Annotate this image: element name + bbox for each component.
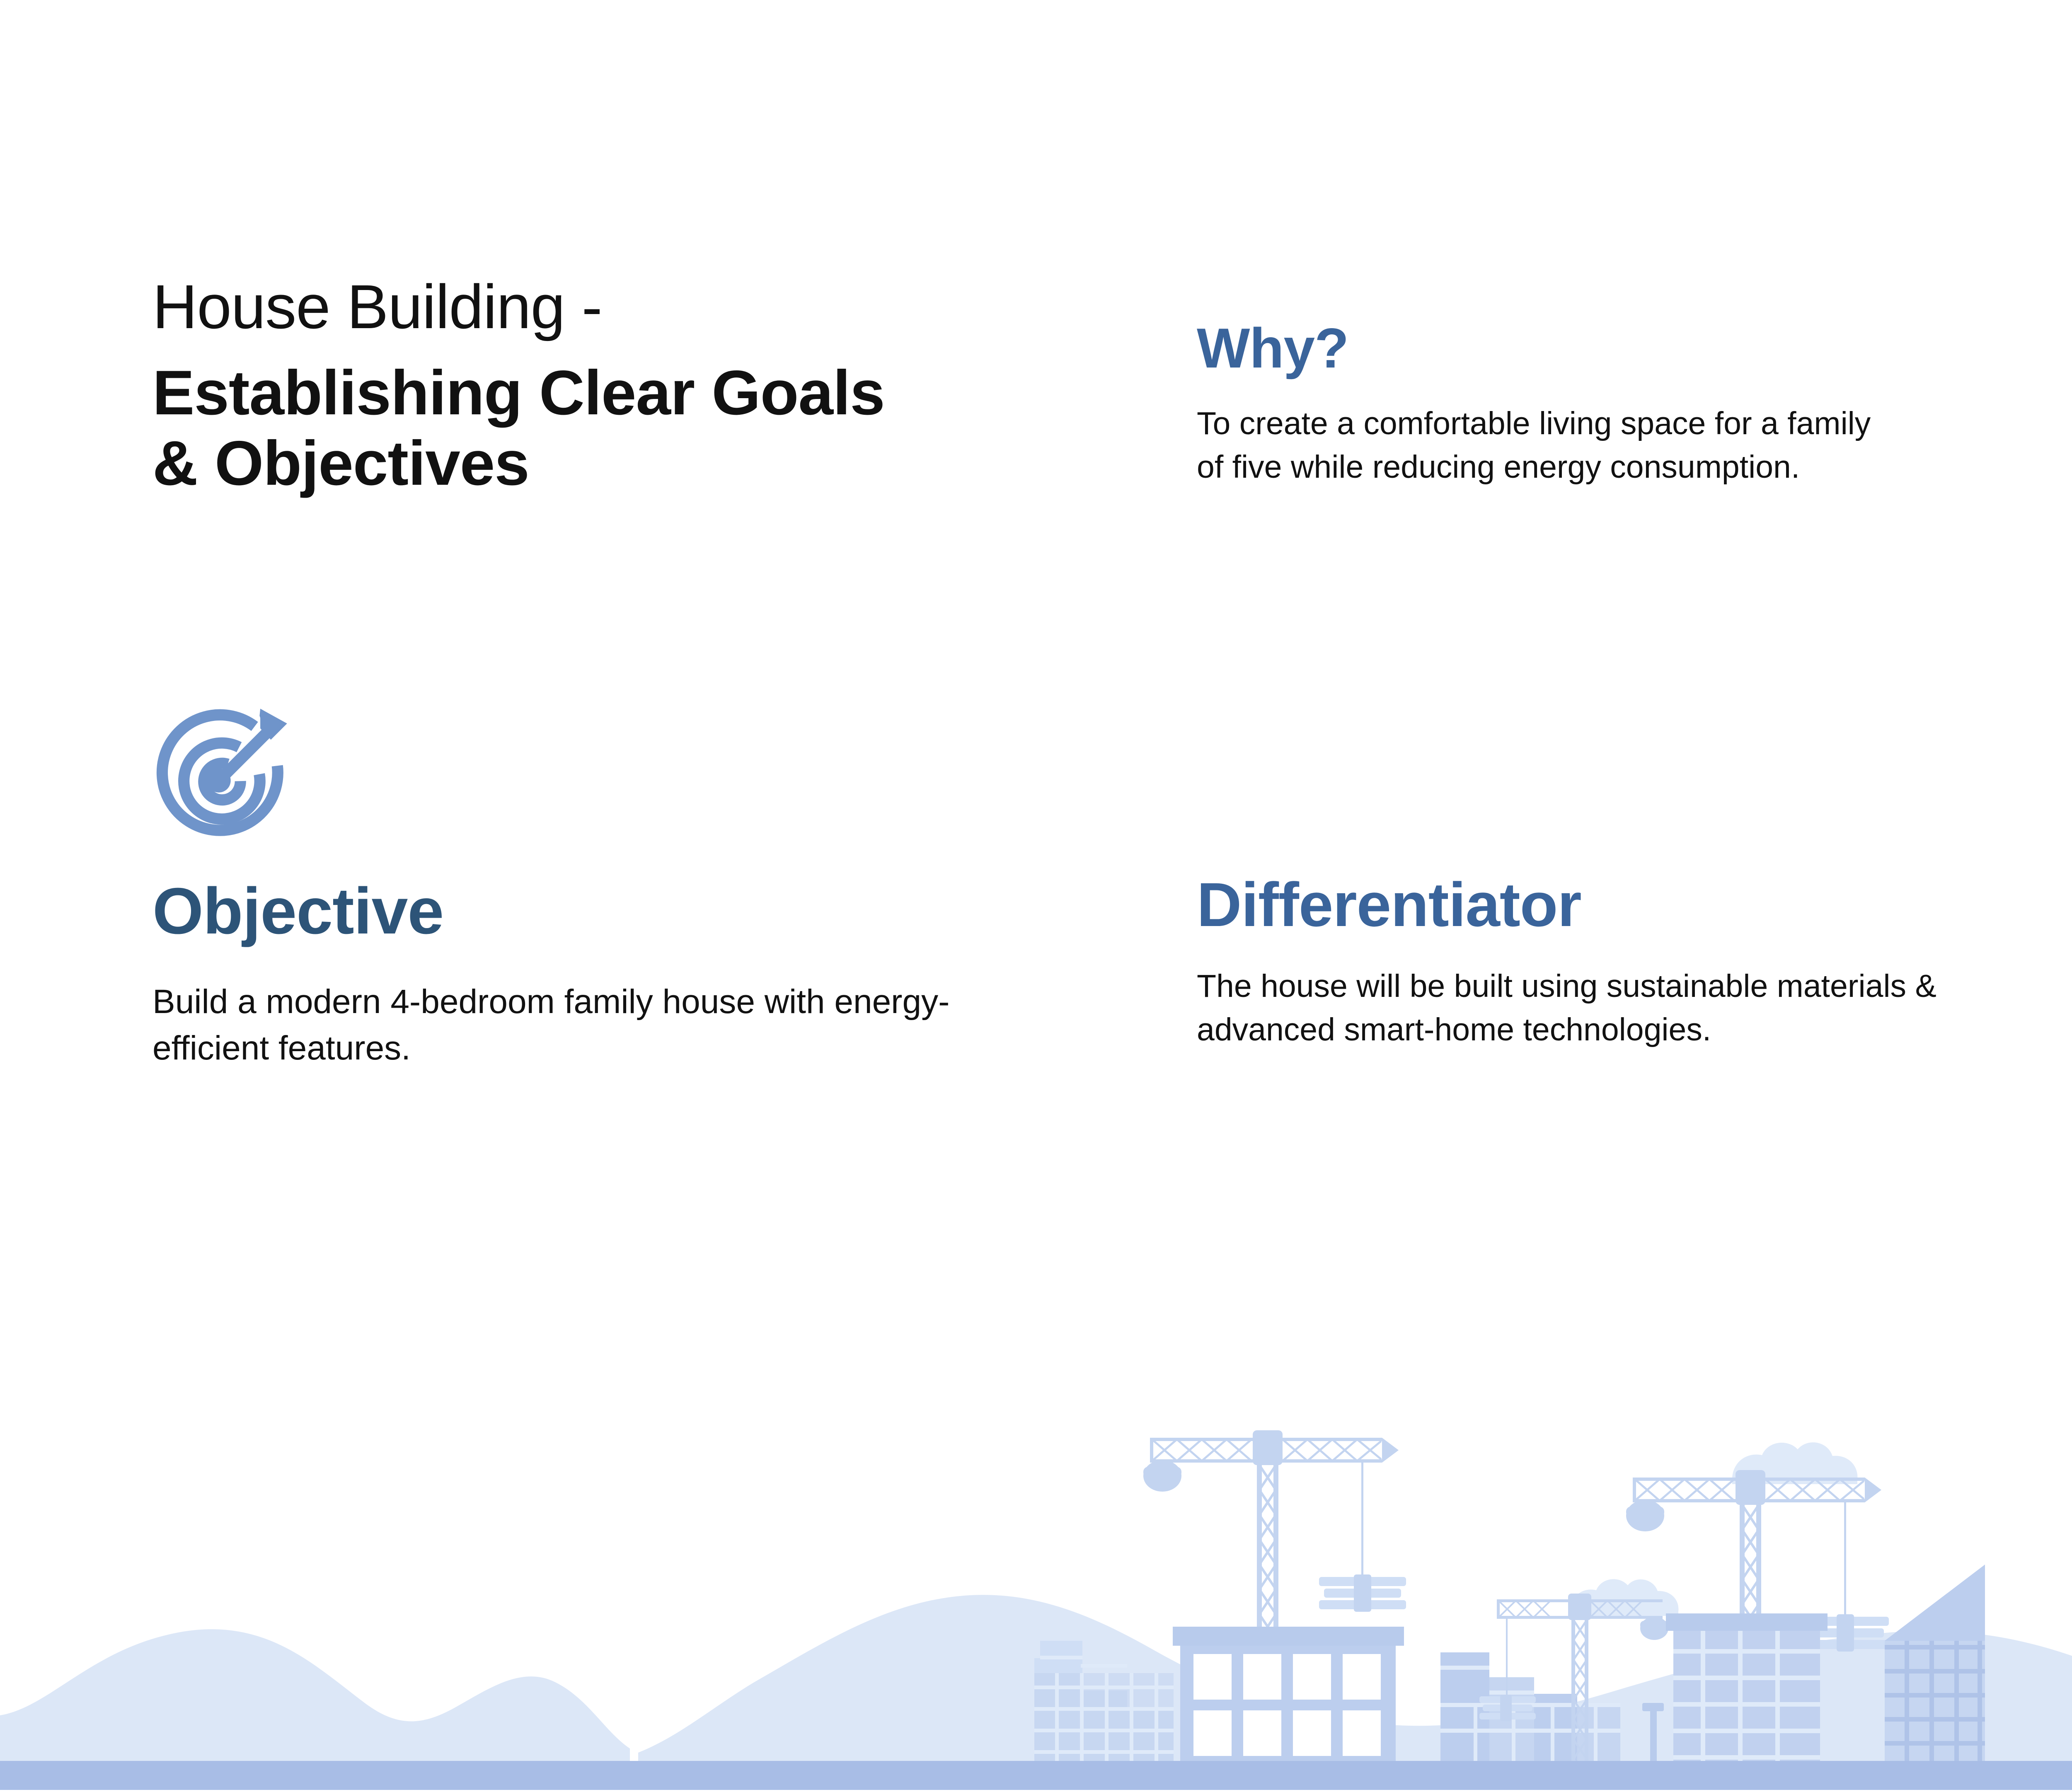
- section-differentiator-heading: Differentiator: [1197, 873, 2009, 936]
- section-objective-body: Build a modern 4-bedroom family house wi…: [152, 979, 965, 1072]
- section-objective-text: Build a modern 4-bedroom family house wi…: [152, 979, 965, 1072]
- section-why-body: To create a comfortable living space for…: [1197, 402, 1893, 489]
- section-why: Why? To create a comfortable living spac…: [1197, 320, 1893, 489]
- ground-band: [0, 1761, 2072, 1790]
- section-differentiator: Differentiator The house will be built u…: [1197, 873, 2009, 1052]
- clouds: [1571, 1442, 1857, 1616]
- section-differentiator-body: The house will be built using sustainabl…: [1197, 965, 2009, 1052]
- building-tower-pointed: [1885, 1565, 1985, 1782]
- section-objective: Objective Build a modern 4-bedroom famil…: [152, 878, 965, 1072]
- section-differentiator-text: The house will be built using sustainabl…: [1197, 965, 2009, 1052]
- section-why-text: To create a comfortable living space for…: [1197, 402, 1893, 489]
- page-title: House Building - Establishing Clear Goal…: [152, 273, 940, 498]
- section-why-heading: Why?: [1197, 320, 1893, 376]
- title-line-1: House Building -: [152, 273, 940, 340]
- title-line-2: Establishing Clear Goals & Objectives: [152, 358, 940, 498]
- section-objective-heading: Objective: [152, 878, 965, 944]
- building-frame-left: [1143, 1430, 1406, 1782]
- construction-site-illustration: [0, 1417, 2072, 1790]
- slide-canvas: House Building - Establishing Clear Goal…: [0, 0, 2072, 1790]
- target-icon: [152, 700, 293, 841]
